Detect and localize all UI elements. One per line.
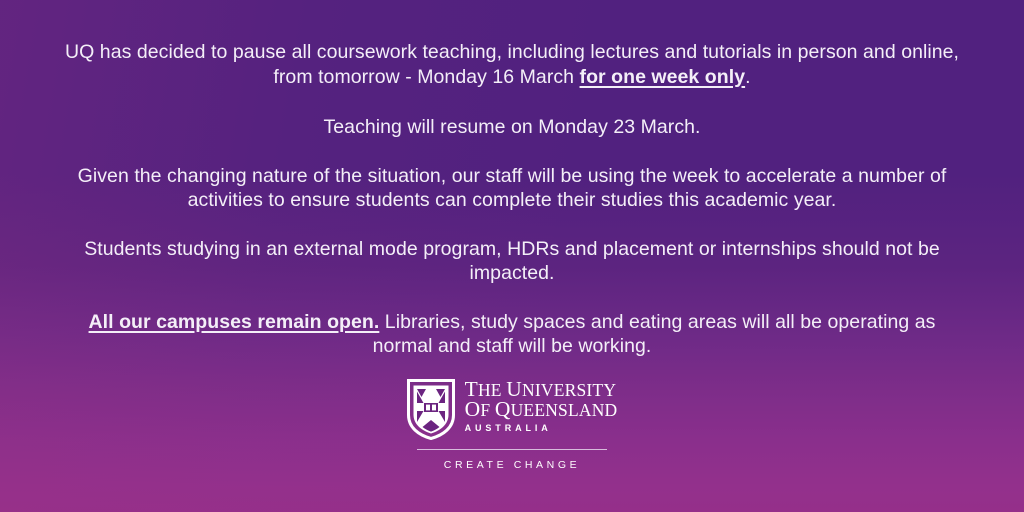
- emphasised-text: All our campuses remain open.: [89, 311, 380, 333]
- logo-divider: [417, 449, 607, 450]
- body-text: Given the changing nature of the situati…: [78, 165, 947, 212]
- emphasised-text: for one week only: [580, 66, 746, 88]
- logo-wordmark: THE UNIVERSITY OF QUEENSLAND AUSTRALIA: [465, 378, 618, 433]
- paragraph-3: Given the changing nature of the situati…: [62, 164, 962, 213]
- body-text: UQ has decided to pause all coursework t…: [65, 41, 959, 88]
- wordmark-line-1: THE UNIVERSITY: [465, 380, 618, 400]
- uq-shield-crest-icon: [407, 379, 455, 440]
- uq-logo-lockup: THE UNIVERSITY OF QUEENSLAND AUSTRALIA C…: [407, 378, 617, 471]
- body-text: Students studying in an external mode pr…: [84, 238, 940, 285]
- message-block: UQ has decided to pause all coursework t…: [62, 0, 962, 359]
- paragraph-5: All our campuses remain open. Libraries,…: [62, 310, 962, 359]
- wordmark-line-2: OF QUEENSLAND: [465, 400, 618, 420]
- logo-main-row: THE UNIVERSITY OF QUEENSLAND AUSTRALIA: [407, 378, 617, 440]
- paragraph-2: Teaching will resume on Monday 23 March.: [62, 115, 962, 140]
- paragraph-4: Students studying in an external mode pr…: [62, 237, 962, 286]
- body-text: Teaching will resume on Monday 23 March.: [323, 116, 700, 138]
- body-text: .: [745, 66, 750, 88]
- paragraph-1: UQ has decided to pause all coursework t…: [62, 40, 962, 89]
- body-text: Libraries, study spaces and eating areas…: [373, 311, 936, 358]
- announcement-card: UQ has decided to pause all coursework t…: [0, 0, 1024, 512]
- wordmark-country: AUSTRALIA: [465, 423, 618, 433]
- logo-tagline: CREATE CHANGE: [444, 459, 580, 471]
